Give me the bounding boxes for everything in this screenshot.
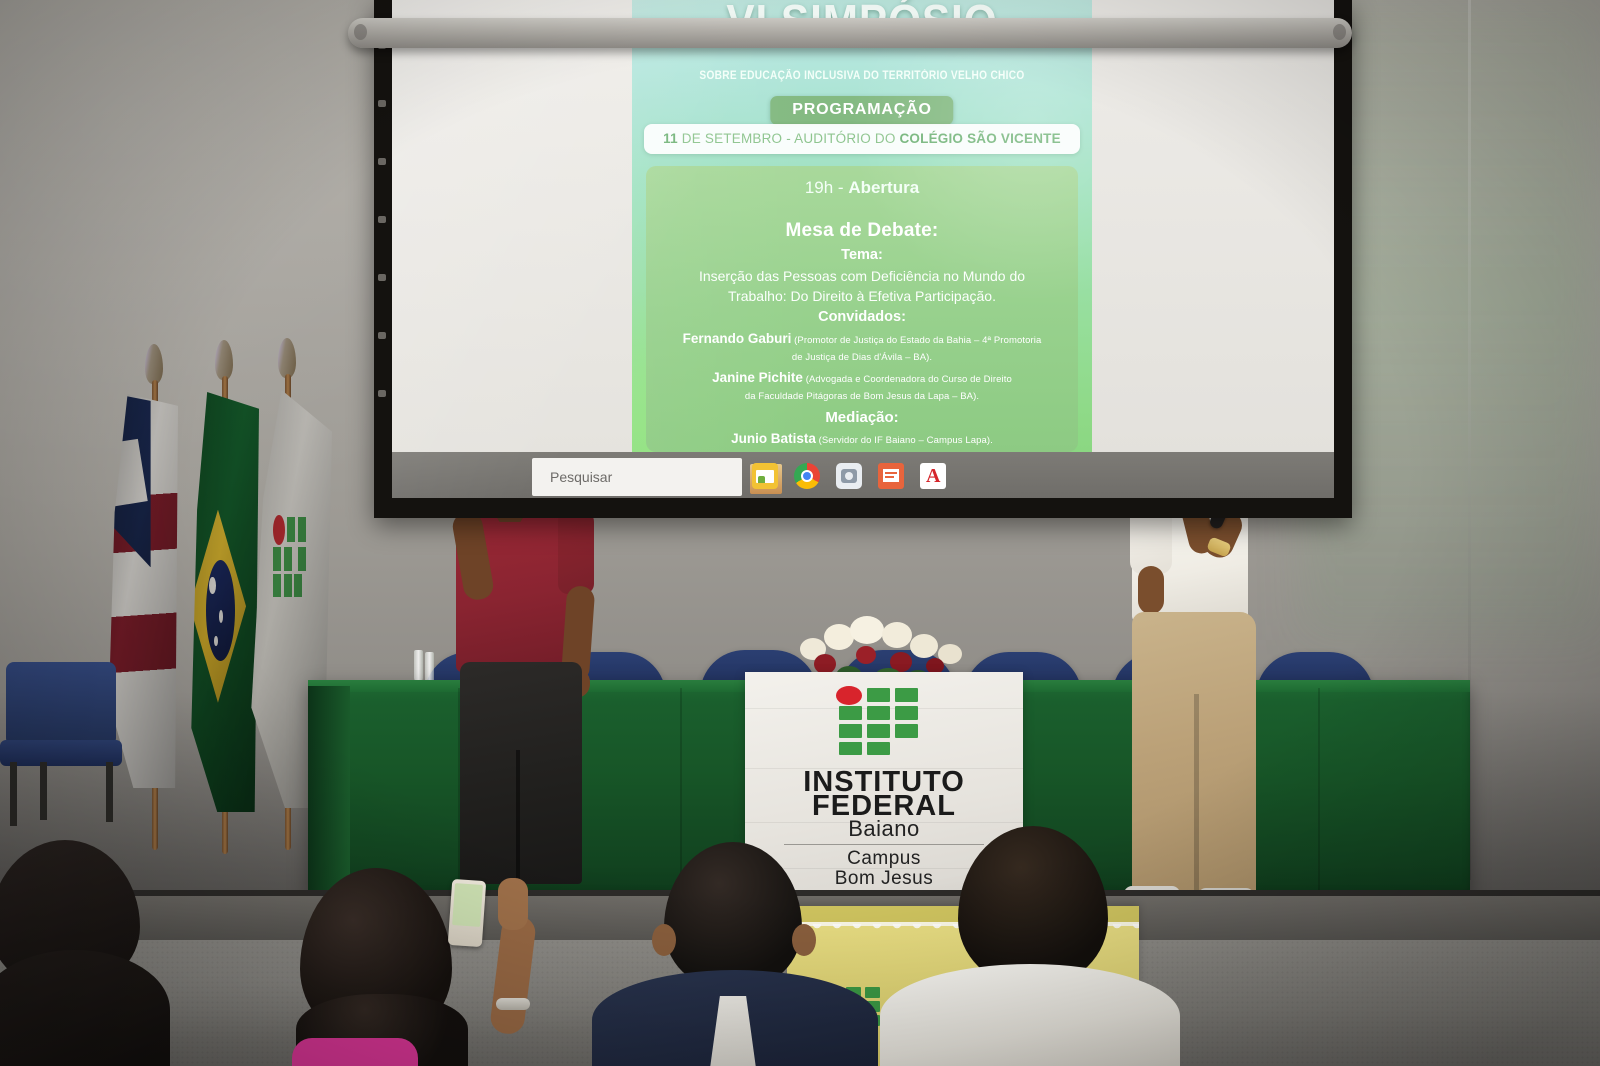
audience-member-filming: [300, 868, 550, 1066]
guest-2-role-b: da Faculdade Pitágoras de Bom Jesus da L…: [745, 391, 979, 402]
adobe-acrobat-pdf-icon[interactable]: A: [920, 463, 946, 489]
opening-label: Abertura: [848, 178, 919, 197]
venue-dash: - AUDITÓRIO DO: [782, 131, 899, 146]
audience-member-right: [880, 826, 1180, 1066]
slide-tema-line-2: Trabalho: Do Direito à Efetiva Participa…: [646, 286, 1078, 306]
slide-tema-line-1: Inserção das Pessoas com Deficiência no …: [646, 266, 1078, 286]
camera-icon[interactable]: [836, 463, 862, 489]
slide-program-badge: PROGRAMAÇÃO: [770, 96, 953, 125]
slide-opening-line: 19h - Abertura: [646, 178, 1078, 198]
mediator-role: (Servidor do IF Baiano – Campus Lapa).: [816, 435, 993, 446]
audience-member-left: [0, 840, 180, 1066]
if-baiano-logo: [836, 686, 932, 752]
projector-screen-surface: VI SIMPÓSIO SOBRE EDUCAÇÃO INCLUSIVA DO …: [392, 0, 1334, 498]
taskbar-icon-group[interactable]: A: [752, 458, 946, 494]
slide-tema-label: Tema:: [646, 247, 1078, 263]
desktop-background-left: [392, 0, 632, 498]
slide-mediator: Junio Batista (Servidor do IF Baiano – C…: [646, 428, 1078, 450]
slide-program-card: 19h - Abertura Mesa de Debate: Tema: Ins…: [646, 166, 1078, 452]
chair-backrest: [6, 662, 116, 746]
guest-1-name: Fernando Gaburi: [683, 331, 792, 346]
mediator-name: Junio Batista: [731, 431, 816, 446]
slide-guest-2-cont: da Faculdade Pitágoras de Bom Jesus da L…: [646, 384, 1078, 406]
opening-time: 19h -: [805, 178, 848, 197]
audience-member-center: [596, 842, 872, 1066]
white-tshirt: [880, 964, 1180, 1066]
slide-subtitle: SOBRE EDUCAÇÃO INCLUSIVA DO TERRITÓRIO V…: [660, 70, 1065, 82]
photo-scene: VI SIMPÓSIO SOBRE EDUCAÇÃO INCLUSIVA DO …: [0, 0, 1600, 1066]
slide-section-title: Mesa de Debate:: [646, 220, 1078, 242]
pink-clothing: [292, 1038, 418, 1066]
venue-day: 11: [663, 131, 678, 146]
presentation-slide: VI SIMPÓSIO SOBRE EDUCAÇÃO INCLUSIVA DO …: [632, 0, 1092, 498]
smartphone-recording[interactable]: [448, 879, 487, 947]
desktop-background-right: [1092, 0, 1334, 498]
guest-2-name: Janine Pichite: [712, 370, 803, 385]
chair-seat: [0, 740, 122, 766]
windows-taskbar[interactable]: Pesquisar: [392, 452, 1334, 498]
table-cloth-left-drape: [308, 686, 350, 896]
slide-guests-label: Convidados:: [646, 309, 1078, 325]
google-chrome-icon[interactable]: [794, 463, 820, 489]
photos-gallery-icon[interactable]: [752, 463, 778, 489]
slide-venue-line: 11 DE SETEMBRO - AUDITÓRIO DO COLÉGIO SÃ…: [644, 124, 1080, 154]
bracelet: [496, 998, 530, 1010]
guest-1-role-a: (Promotor de Justiça do Estado da Bahia …: [791, 335, 1041, 346]
guest-2-role-a: (Advogada e Coordenadora do Curso de Dir…: [803, 374, 1012, 385]
venue-mid: DE SETEMBRO: [678, 131, 782, 146]
venue-place: COLÉGIO SÃO VICENTE: [899, 131, 1060, 146]
roller-end-cap-right: [1333, 24, 1346, 40]
projector-screen-roller-case: [348, 18, 1352, 48]
side-chair-left: [0, 662, 128, 822]
presentation-doc-icon[interactable]: [878, 463, 904, 489]
roller-end-cap-left: [354, 24, 367, 40]
guest-1-role-b: de Justiça de Dias d'Ávila – BA).: [792, 352, 932, 363]
phone-screen: [452, 883, 483, 927]
slide-mediation-label: Mediação:: [646, 409, 1078, 426]
taskbar-search-input[interactable]: Pesquisar: [532, 458, 742, 496]
